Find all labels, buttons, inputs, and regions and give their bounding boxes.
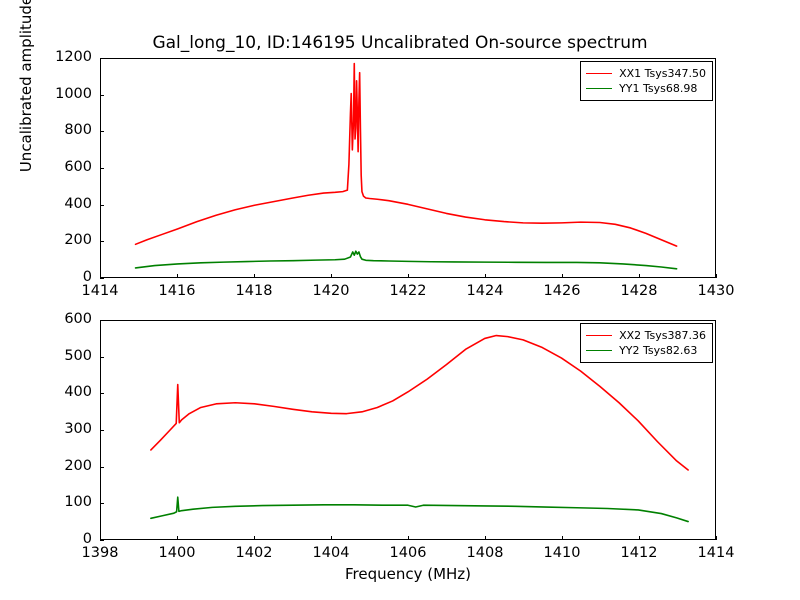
legend-label-xx2: XX2 Tsys387.36 xyxy=(619,328,706,343)
y-tick-mark xyxy=(100,467,104,468)
x-tick-mark xyxy=(639,536,640,540)
y-tick-label: 100 xyxy=(28,494,92,510)
y-tick-label: 0 xyxy=(28,531,92,547)
x-tick-label: 1420 xyxy=(301,283,361,299)
x-tick-label: 1408 xyxy=(455,545,515,561)
x-tick-mark xyxy=(562,274,563,278)
x-tick-mark xyxy=(408,274,409,278)
x-tick-mark xyxy=(177,274,178,278)
legend-entry-xx1: XX1 Tsys347.50 xyxy=(586,66,706,81)
top-spectrum-axes: XX1 Tsys347.50 YY1 Tsys68.98 xyxy=(100,58,716,278)
top-legend: XX1 Tsys347.50 YY1 Tsys68.98 xyxy=(580,61,713,101)
y-tick-label: 300 xyxy=(28,421,92,437)
y-tick-mark xyxy=(100,58,104,59)
x-tick-mark xyxy=(716,536,717,540)
x-tick-label: 1424 xyxy=(455,283,515,299)
x-tick-mark xyxy=(485,274,486,278)
legend-line-swatch-yy2 xyxy=(586,350,612,351)
x-tick-label: 1402 xyxy=(224,545,284,561)
series-line xyxy=(136,251,677,269)
x-tick-label: 1414 xyxy=(70,283,130,299)
x-tick-mark xyxy=(177,536,178,540)
y-tick-label: 400 xyxy=(28,384,92,400)
bottom-x-axis-label: Frequency (MHz) xyxy=(100,565,716,583)
x-tick-label: 1428 xyxy=(609,283,669,299)
x-tick-mark xyxy=(254,274,255,278)
x-tick-label: 1422 xyxy=(378,283,438,299)
x-tick-mark xyxy=(331,536,332,540)
x-tick-label: 1416 xyxy=(147,283,207,299)
x-tick-mark xyxy=(639,274,640,278)
y-tick-label: 600 xyxy=(28,311,92,327)
bottom-spectrum-axes: XX2 Tsys387.36 YY2 Tsys82.63 xyxy=(100,320,716,540)
x-tick-label: 1404 xyxy=(301,545,361,561)
series-line xyxy=(151,497,688,521)
x-tick-label: 1430 xyxy=(686,283,746,299)
x-tick-mark xyxy=(331,274,332,278)
y-tick-mark xyxy=(100,503,104,504)
x-tick-label: 1426 xyxy=(532,283,592,299)
y-tick-label: 0 xyxy=(28,269,92,285)
legend-entry-yy2: YY2 Tsys82.63 xyxy=(586,343,706,358)
y-tick-label: 200 xyxy=(28,232,92,248)
legend-line-swatch-yy1 xyxy=(586,88,612,89)
legend-entry-yy1: YY1 Tsys68.98 xyxy=(586,81,706,96)
x-tick-mark xyxy=(408,536,409,540)
x-tick-label: 1400 xyxy=(147,545,207,561)
y-tick-mark xyxy=(100,540,104,541)
y-tick-mark xyxy=(100,241,104,242)
x-tick-label: 1414 xyxy=(686,545,746,561)
legend-line-swatch-xx1 xyxy=(586,73,612,74)
y-tick-mark xyxy=(100,205,104,206)
x-tick-label: 1398 xyxy=(70,545,130,561)
y-tick-mark xyxy=(100,168,104,169)
y-tick-label: 1000 xyxy=(28,86,92,102)
y-tick-label: 600 xyxy=(28,159,92,175)
x-tick-mark xyxy=(716,274,717,278)
y-tick-label: 800 xyxy=(28,122,92,138)
y-tick-label: 200 xyxy=(28,458,92,474)
y-tick-mark xyxy=(100,320,104,321)
y-tick-mark xyxy=(100,393,104,394)
legend-line-swatch-xx2 xyxy=(586,335,612,336)
y-tick-mark xyxy=(100,357,104,358)
x-tick-label: 1406 xyxy=(378,545,438,561)
x-tick-mark xyxy=(485,536,486,540)
y-tick-label: 1200 xyxy=(28,49,92,65)
y-tick-mark xyxy=(100,278,104,279)
legend-label-yy1: YY1 Tsys68.98 xyxy=(619,81,697,96)
y-tick-mark xyxy=(100,95,104,96)
top-y-axis-label: Uncalibrated amplitude xyxy=(17,0,35,214)
matplotlib-figure: Gal_long_10, ID:146195 Uncalibrated On-s… xyxy=(0,0,800,600)
legend-label-xx1: XX1 Tsys347.50 xyxy=(619,66,706,81)
chart-title: Gal_long_10, ID:146195 Uncalibrated On-s… xyxy=(0,33,800,53)
y-tick-mark xyxy=(100,430,104,431)
y-tick-label: 400 xyxy=(28,196,92,212)
x-tick-label: 1412 xyxy=(609,545,669,561)
legend-entry-xx2: XX2 Tsys387.36 xyxy=(586,328,706,343)
y-tick-mark xyxy=(100,131,104,132)
x-tick-mark xyxy=(254,536,255,540)
legend-label-yy2: YY2 Tsys82.63 xyxy=(619,343,697,358)
x-tick-label: 1418 xyxy=(224,283,284,299)
x-tick-mark xyxy=(562,536,563,540)
y-tick-label: 500 xyxy=(28,348,92,364)
bottom-legend: XX2 Tsys387.36 YY2 Tsys82.63 xyxy=(580,323,713,363)
x-tick-label: 1410 xyxy=(532,545,592,561)
